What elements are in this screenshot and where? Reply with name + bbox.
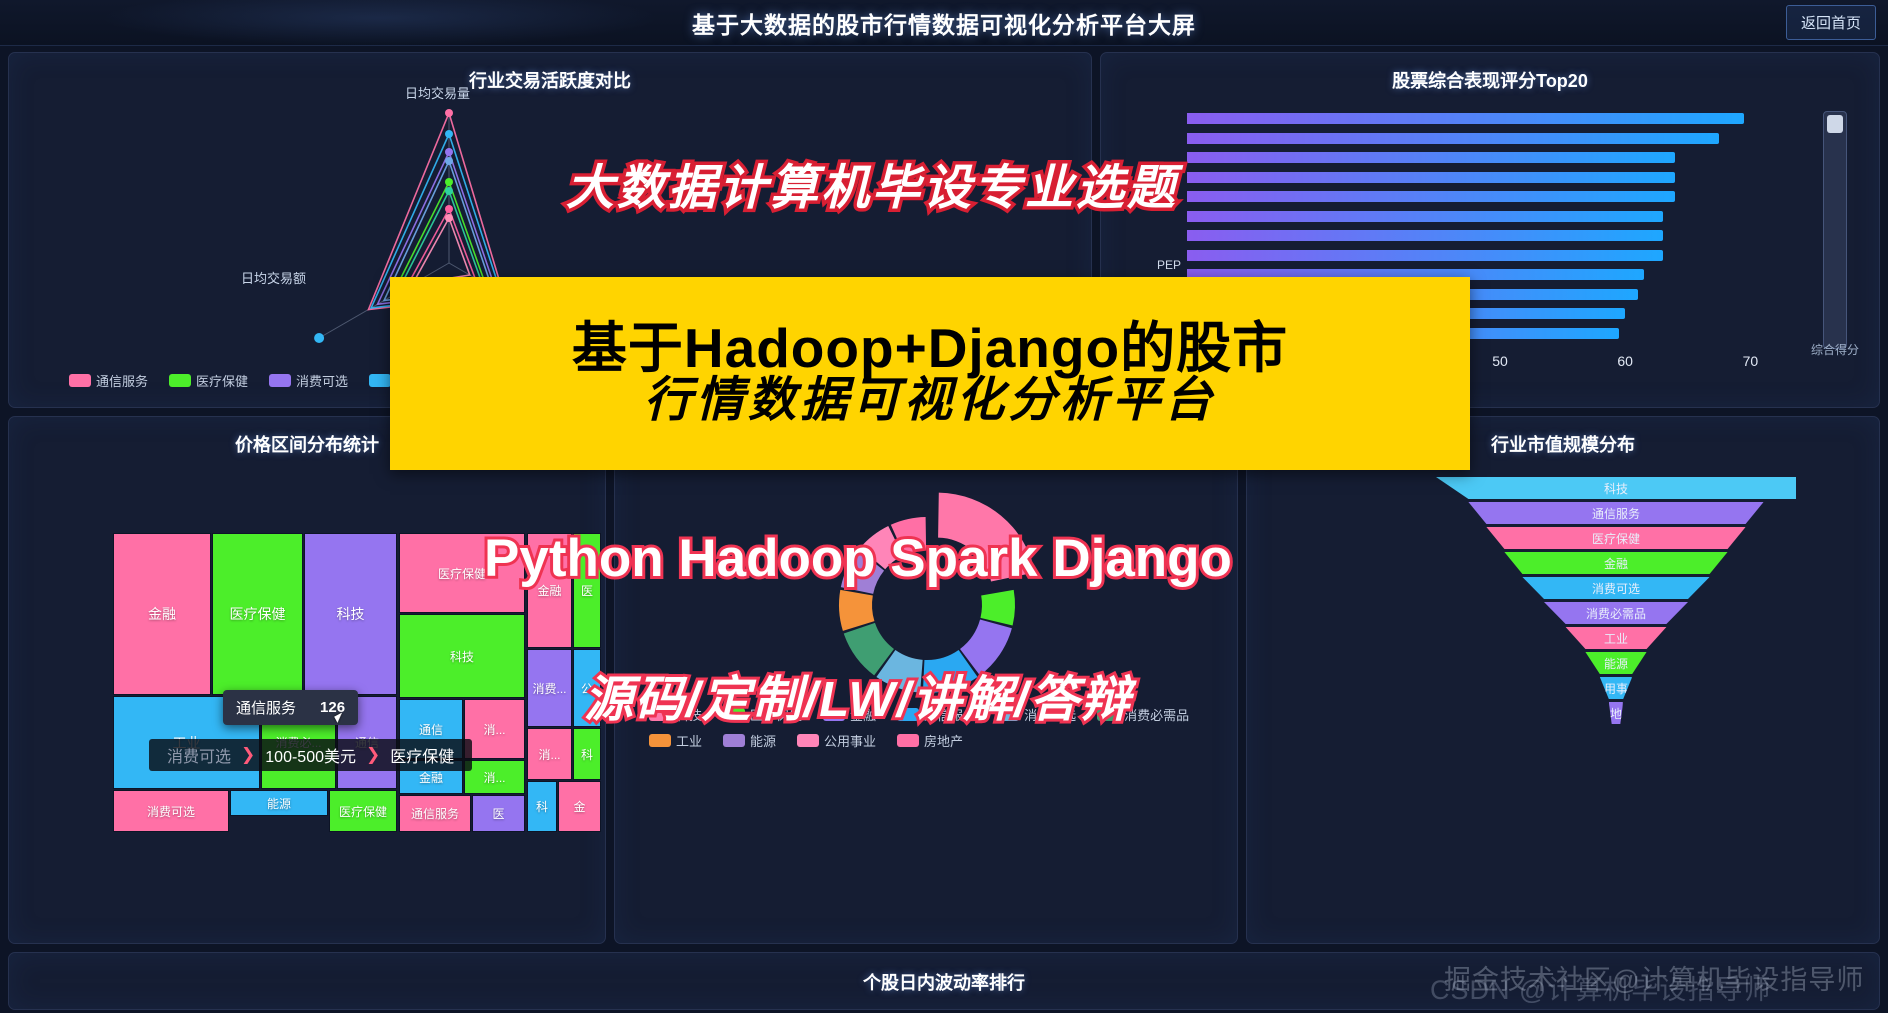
bar-chart-bar[interactable]	[1187, 172, 1675, 183]
breadcrumb-item-range[interactable]: 100-500美元	[257, 743, 364, 767]
donut-slice[interactable]	[839, 590, 874, 631]
funnel-stage[interactable]: 金融	[1504, 552, 1727, 574]
treemap-tile[interactable]: 医疗保健	[212, 533, 303, 695]
breadcrumb-separator-icon: ❯	[241, 745, 255, 765]
legend-color-swatch	[649, 734, 671, 747]
radar-axis-label-amount: 日均交易额	[241, 268, 306, 287]
legend-color-swatch	[797, 734, 819, 747]
treemap-tooltip-label: 通信服务	[236, 697, 296, 718]
breadcrumb-separator-icon: ❯	[366, 745, 380, 765]
return-home-button[interactable]: 返回首页	[1786, 5, 1876, 40]
funnel-stage[interactable]: 能源	[1585, 652, 1646, 674]
bar-chart-bar[interactable]	[1187, 152, 1675, 163]
funnel-chart[interactable]: 科技通信服务医疗保健金融消费可选消费必需品工业能源公用事业房地产	[1247, 467, 1881, 887]
legend-color-swatch	[723, 734, 745, 747]
treemap-tile[interactable]: 金	[558, 781, 601, 832]
overlay-services: 源码/定制/LW/讲解/答辩	[584, 660, 1132, 731]
bar-chart-xtick: 60	[1617, 353, 1633, 369]
bar-chart-scrollbar-track[interactable]	[1823, 111, 1847, 349]
treemap-tile[interactable]: 通信服务	[399, 795, 471, 832]
legend-color-swatch	[897, 734, 919, 747]
treemap-tile[interactable]: 消...	[464, 699, 525, 759]
dashboard-screen: 基于大数据的股市行情数据可视化分析平台大屏 返回首页 行业交易活跃度对比 日均交…	[0, 0, 1888, 1013]
funnel-stage[interactable]: 消费必需品	[1544, 602, 1688, 624]
radar-legend[interactable]: 通信服务医疗保健消费可选科技	[69, 371, 436, 390]
funnel-stage[interactable]: 工业	[1566, 627, 1667, 649]
donut-legend-item[interactable]: 公用事业	[797, 731, 876, 750]
bar-chart-ylabel: PEP	[1129, 258, 1181, 272]
bar-axis-name: 综合得分	[1811, 341, 1859, 358]
bar-chart-bar[interactable]	[1187, 230, 1663, 241]
funnel-stage[interactable]: 房地产	[1609, 702, 1623, 724]
donut-legend-item[interactable]: 工业	[649, 731, 702, 750]
legend-label: 消费必需品	[1124, 705, 1189, 724]
treemap-tile[interactable]: 科	[527, 781, 557, 832]
treemap-tile[interactable]: 消费可选	[113, 790, 229, 832]
legend-color-swatch	[369, 374, 391, 387]
bar-chart-scrollbar-thumb[interactable]	[1827, 115, 1843, 133]
treemap-tile[interactable]: 科	[573, 728, 601, 780]
treemap-tile[interactable]: 能源	[230, 790, 328, 816]
donut-legend-item[interactable]: 能源	[723, 731, 776, 750]
funnel-stage[interactable]: 医疗保健	[1486, 527, 1745, 549]
bar-chart-xtick: 70	[1743, 353, 1759, 369]
legend-label: 通信服务	[96, 371, 148, 390]
watermark-secondary: CSDN @计算机毕设指导师	[1430, 968, 1771, 1007]
overlay-yellow-line2: 行情数据可视化分析平台	[644, 376, 1216, 426]
funnel-stage[interactable]: 公用事业	[1600, 677, 1632, 699]
overlay-yellow-line1: 基于Hadoop+Django的股市	[572, 320, 1288, 376]
funnel-stage[interactable]: 消费可选	[1522, 577, 1709, 599]
breadcrumb-item-root[interactable]: 消费可选	[159, 743, 239, 767]
bar-chart-bar[interactable]	[1187, 211, 1663, 222]
treemap-tile[interactable]: 医疗保健	[329, 790, 397, 832]
funnel-stage[interactable]: 通信服务	[1468, 502, 1763, 524]
treemap-tooltip: 通信服务 126	[223, 690, 358, 725]
breadcrumb-item-sector[interactable]: 医疗保健	[382, 743, 462, 767]
legend-label: 工业	[676, 731, 702, 750]
legend-label: 能源	[750, 731, 776, 750]
treemap-tile[interactable]: 医	[472, 795, 525, 832]
legend-color-swatch	[269, 374, 291, 387]
bar-chart-bar[interactable]	[1187, 113, 1744, 124]
treemap-tile[interactable]: 消...	[527, 728, 572, 780]
panel-industry-marketcap-funnel: 行业市值规模分布 科技通信服务医疗保健金融消费可选消费必需品工业能源公用事业房地…	[1246, 416, 1880, 944]
bar-chart-xtick: 50	[1492, 353, 1508, 369]
radar-legend-item[interactable]: 消费可选	[269, 371, 348, 390]
legend-label: 消费可选	[296, 371, 348, 390]
legend-label: 医疗保健	[196, 371, 248, 390]
treemap-tile[interactable]: 消费...	[527, 649, 572, 727]
donut-slice[interactable]	[980, 590, 1015, 626]
treemap-tile[interactable]: 金融	[113, 533, 211, 695]
radar-legend-item[interactable]: 通信服务	[69, 371, 148, 390]
bar-chart-bar[interactable]	[1187, 250, 1663, 261]
overlay-yellow-title-box: 基于Hadoop+Django的股市 行情数据可视化分析平台	[390, 277, 1470, 470]
overlay-red-banner: 大数据计算机毕设专业选题	[566, 148, 1178, 218]
funnel-stage[interactable]: 科技	[1436, 477, 1796, 499]
bar-chart-bar[interactable]	[1187, 133, 1719, 144]
legend-color-swatch	[169, 374, 191, 387]
treemap-tile[interactable]: 科技	[304, 533, 397, 695]
donut-legend-item[interactable]: 房地产	[897, 731, 963, 750]
treemap-tile[interactable]: 科技	[399, 614, 525, 698]
legend-color-swatch	[69, 374, 91, 387]
treemap-tooltip-value: 126	[320, 699, 345, 716]
legend-label: 房地产	[924, 731, 963, 750]
treemap-breadcrumb[interactable]: 消费可选 ❯ 100-500美元 ❯ 医疗保健	[149, 739, 472, 771]
legend-label: 公用事业	[824, 731, 876, 750]
header-glow	[100, 0, 660, 46]
page-title: 基于大数据的股市行情数据可视化分析平台大屏	[692, 6, 1196, 40]
radar-legend-item[interactable]: 医疗保健	[169, 371, 248, 390]
app-header: 基于大数据的股市行情数据可视化分析平台大屏 返回首页	[0, 0, 1888, 46]
overlay-tech-stack: Python Hadoop Spark Django	[484, 528, 1232, 589]
bar-chart-bar[interactable]	[1187, 191, 1675, 202]
panel-price-range-treemap: 价格区间分布统计 金融医疗保健科技工业消费必...通信消费可选能源医疗保健医疗保…	[8, 416, 606, 944]
radar-axis-label-volume: 日均交易量	[405, 83, 470, 102]
treemap-tile[interactable]: 消...	[464, 760, 525, 794]
